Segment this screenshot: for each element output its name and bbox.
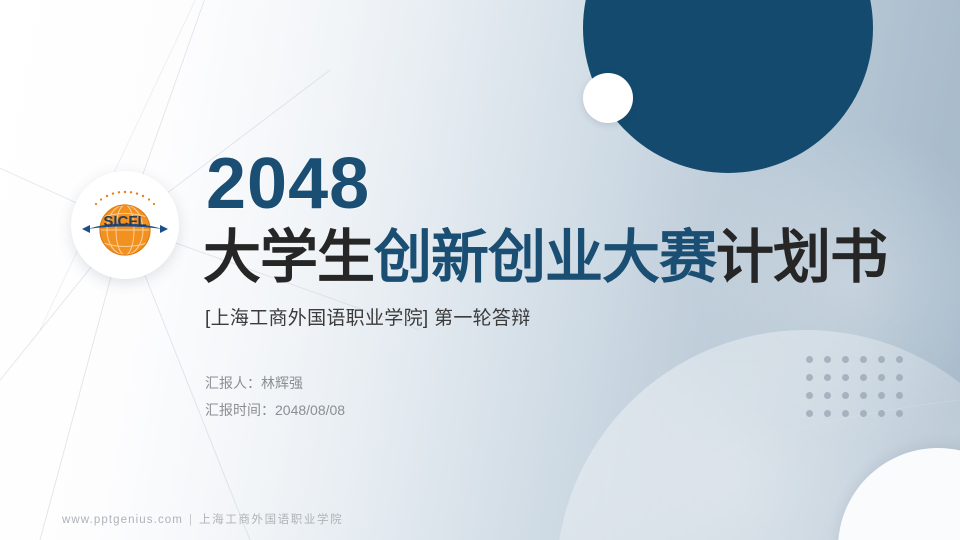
- dot-grid-decor: [806, 356, 914, 428]
- presentation-meta: 汇报人：林辉强 汇报时间：2048/08/08: [205, 370, 345, 425]
- year-title: 2048: [206, 148, 370, 220]
- navy-circle-decor: [583, 0, 873, 173]
- logo-acronym: SICFL: [103, 213, 146, 230]
- footer-organization: 上海工商外国语职业学院: [199, 514, 343, 526]
- main-headline: 大学生创新创业大赛计划书: [203, 228, 887, 289]
- footer: www.pptgenius.com|上海工商外国语职业学院: [62, 511, 343, 527]
- footer-separator: |: [189, 514, 193, 526]
- large-soft-circle-decor: [556, 330, 960, 540]
- date-line: 汇报时间：2048/08/08: [205, 397, 345, 424]
- headline-part-lead: 大学生: [203, 225, 374, 290]
- footer-website: www.pptgenius.com: [62, 514, 183, 526]
- bottom-right-white-circle-decor: [838, 448, 960, 540]
- title-slide: SICFL 2048 大学生创新创业大赛计划书 [上海工商外国语职业学院] 第一…: [0, 0, 960, 540]
- headline-part-highlight: 创新创业大赛: [374, 225, 716, 290]
- subtitle: [上海工商外国语职业学院] 第一轮答辩: [205, 303, 531, 330]
- logo-arc-dots: [95, 191, 155, 205]
- sicfl-globe-icon: SICFL: [82, 187, 168, 263]
- logo-badge: SICFL: [71, 171, 179, 279]
- presenter-line: 汇报人：林辉强: [205, 370, 345, 397]
- white-accent-circle-decor: [583, 73, 633, 123]
- headline-part-tail: 计划书: [716, 225, 887, 290]
